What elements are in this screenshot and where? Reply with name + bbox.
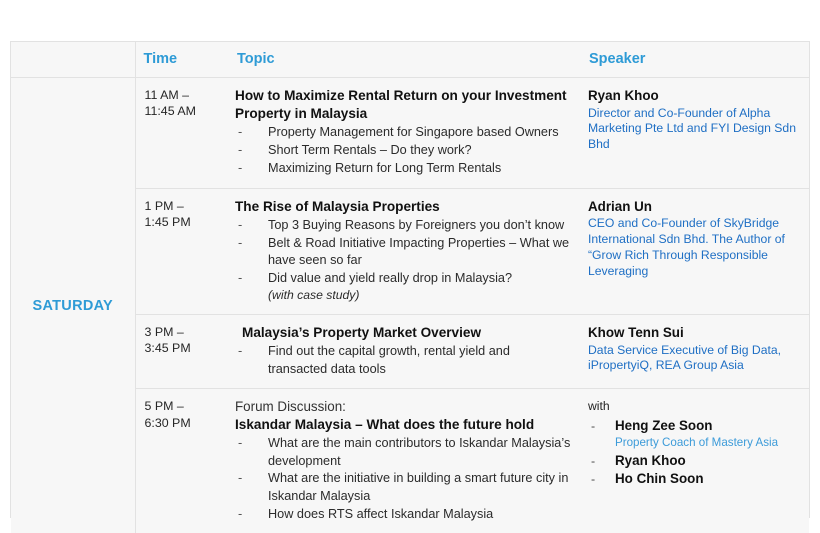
list-item: -Did value and yield really drop in Mala…: [235, 270, 571, 304]
session-topic: Malaysia’s Property Market Overview -Fin…: [229, 315, 581, 389]
speaker-role: Data Service Executive of Big Data, iPro…: [588, 343, 799, 375]
session-panel: with - Heng Zee Soon Property Coach of M…: [581, 389, 809, 533]
table-body: SATURDAY 11 AM – 11:45 AM How to Maximiz…: [11, 78, 809, 533]
time-line-end: 3:45 PM: [145, 340, 220, 356]
session-speaker: Ryan Khoo Director and Co-Founder of Alp…: [581, 78, 809, 189]
list-item: -Short Term Rentals – Do they work?: [235, 142, 571, 159]
panelist-name: Ryan Khoo: [615, 453, 686, 468]
session-kicker: Forum Discussion:: [235, 398, 571, 416]
table-row: SATURDAY 11 AM – 11:45 AM How to Maximiz…: [11, 78, 809, 189]
list-item: -What are the main contributors to Iskan…: [235, 435, 571, 470]
dash-bullet-icon: -: [238, 142, 242, 159]
dash-bullet-icon: -: [591, 453, 595, 470]
time-line-end: 11:45 AM: [145, 103, 220, 119]
dash-bullet-icon: -: [238, 470, 242, 487]
session-title: The Rise of Malaysia Properties: [235, 198, 571, 216]
dash-bullet-icon: -: [238, 160, 242, 177]
time-line-start: 5 PM –: [145, 398, 220, 414]
speaker-name: Adrian Un: [588, 198, 799, 217]
bullet-text: What are the initiative in building a sm…: [268, 471, 568, 502]
list-item: - Heng Zee Soon Property Coach of Master…: [588, 417, 799, 450]
day-label-saturday: SATURDAY: [11, 78, 135, 533]
column-header-speaker: Speaker: [581, 42, 809, 78]
panelist-name: Heng Zee Soon: [615, 418, 712, 433]
session-time: 3 PM – 3:45 PM: [135, 315, 229, 389]
schedule-table: Time Topic Speaker SATURDAY 11 AM – 11:4…: [11, 42, 809, 533]
session-title: Malaysia’s Property Market Overview: [235, 324, 571, 342]
list-item: -How does RTS affect Iskandar Malaysia: [235, 506, 571, 523]
bullet-note: (with case study): [268, 287, 571, 304]
speaker-role: Director and Co-Founder of Alpha Marketi…: [588, 106, 799, 154]
bullet-text: Find out the capital growth, rental yiel…: [268, 344, 510, 375]
dash-bullet-icon: -: [238, 124, 242, 141]
bullet-text: What are the main contributors to Iskand…: [268, 436, 570, 467]
session-time: 1 PM – 1:45 PM: [135, 188, 229, 314]
column-header-time: Time: [135, 42, 229, 78]
list-item: -Top 3 Buying Reasons by Foreigners you …: [235, 217, 571, 234]
bullet-text: Top 3 Buying Reasons by Foreigners you d…: [268, 218, 564, 232]
dash-bullet-icon: -: [591, 471, 595, 488]
session-bullet-list: -Top 3 Buying Reasons by Foreigners you …: [235, 217, 571, 304]
list-item: -Property Management for Singapore based…: [235, 124, 571, 141]
list-item: -Find out the capital growth, rental yie…: [235, 343, 571, 378]
bullet-text: Maximizing Return for Long Term Rentals: [268, 161, 501, 175]
panelist-role: Property Coach of Mastery Asia: [615, 435, 799, 450]
panelist-list: - Heng Zee Soon Property Coach of Master…: [588, 417, 799, 488]
list-item: - Ho Chin Soon: [588, 470, 799, 488]
speaker-name: Ryan Khoo: [588, 87, 799, 106]
column-header-day: [11, 42, 135, 78]
time-line-start: 11 AM –: [145, 87, 220, 103]
dash-bullet-icon: -: [238, 235, 242, 252]
time-line-end: 6:30 PM: [145, 415, 220, 431]
session-time: 5 PM – 6:30 PM: [135, 389, 229, 533]
dash-bullet-icon: -: [238, 217, 242, 234]
time-line-end: 1:45 PM: [145, 214, 220, 230]
dash-bullet-icon: -: [238, 506, 242, 523]
list-item: -Belt & Road Initiative Impacting Proper…: [235, 235, 571, 270]
time-line-start: 1 PM –: [145, 198, 220, 214]
header-row: Time Topic Speaker: [11, 42, 809, 78]
list-item: - Ryan Khoo: [588, 452, 799, 470]
session-bullet-list: -What are the main contributors to Iskan…: [235, 435, 571, 522]
list-item: -What are the initiative in building a s…: [235, 470, 571, 505]
session-topic: How to Maximize Rental Return on your In…: [229, 78, 581, 189]
session-title: Iskandar Malaysia – What does the future…: [235, 416, 571, 434]
dash-bullet-icon: -: [591, 418, 595, 435]
session-time: 11 AM – 11:45 AM: [135, 78, 229, 189]
bullet-text: Short Term Rentals – Do they work?: [268, 143, 472, 157]
session-bullet-list: -Property Management for Singapore based…: [235, 124, 571, 177]
column-header-topic: Topic: [229, 42, 581, 78]
list-item: -Maximizing Return for Long Term Rentals: [235, 160, 571, 177]
session-topic: The Rise of Malaysia Properties -Top 3 B…: [229, 188, 581, 314]
session-topic: Forum Discussion: Iskandar Malaysia – Wh…: [229, 389, 581, 533]
session-speaker: Adrian Un CEO and Co-Founder of SkyBridg…: [581, 188, 809, 314]
dash-bullet-icon: -: [238, 343, 242, 360]
dash-bullet-icon: -: [238, 435, 242, 452]
session-bullet-list: -Find out the capital growth, rental yie…: [235, 343, 571, 378]
time-line-start: 3 PM –: [145, 324, 220, 340]
speaker-role: CEO and Co-Founder of SkyBridge Internat…: [588, 216, 799, 279]
session-speaker: Khow Tenn Sui Data Service Executive of …: [581, 315, 809, 389]
panel-intro-label: with: [588, 398, 799, 415]
dash-bullet-icon: -: [238, 270, 242, 287]
panelist-name: Ho Chin Soon: [615, 471, 704, 486]
bullet-text: Did value and yield really drop in Malay…: [268, 271, 512, 285]
bullet-text: Belt & Road Initiative Impacting Propert…: [268, 236, 569, 267]
speaker-name: Khow Tenn Sui: [588, 324, 799, 343]
table-header: Time Topic Speaker: [11, 42, 809, 78]
schedule-table-container: Time Topic Speaker SATURDAY 11 AM – 11:4…: [10, 41, 810, 518]
bullet-text: Property Management for Singapore based …: [268, 125, 559, 139]
session-title: How to Maximize Rental Return on your In…: [235, 87, 571, 123]
bullet-text: How does RTS affect Iskandar Malaysia: [268, 507, 493, 521]
